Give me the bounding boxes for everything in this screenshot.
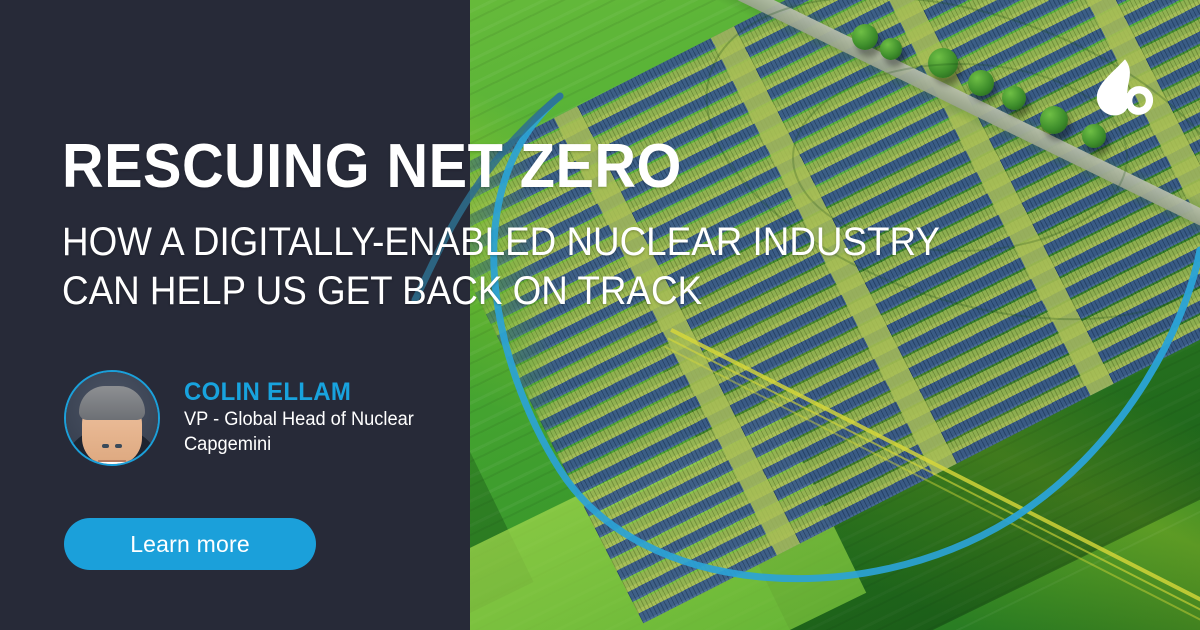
promo-banner: RESCUING NET ZERO HOW A DIGITALLY-ENABLE… [0,0,1200,630]
avatar-eye-right [102,444,109,448]
avatar-eye-left [115,444,122,448]
subtitle-line-1: HOW A DIGITALLY-ENABLED NUCLEAR INDUSTRY [62,218,940,267]
page-title: RESCUING NET ZERO [62,136,682,198]
author-name: COLIN ELLAM [184,379,414,407]
author-details: COLIN ELLAM VP - Global Head of Nuclear … [184,379,423,457]
capgemini-spade-logo-icon [1094,58,1156,124]
banner-content: RESCUING NET ZERO HOW A DIGITALLY-ENABLE… [0,0,1200,630]
subtitle-line-2: CAN HELP US GET BACK ON TRACK [62,267,940,316]
subtitle: HOW A DIGITALLY-ENABLED NUCLEAR INDUSTRY… [62,218,940,316]
author-role: VP - Global Head of Nuclear [184,407,414,432]
author-company: Capgemini [184,432,414,457]
avatar-hair [79,386,145,420]
author-block: COLIN ELLAM VP - Global Head of Nuclear … [64,370,423,466]
avatar-smile [98,462,126,466]
avatar [64,370,160,466]
learn-more-button[interactable]: Learn more [64,518,316,570]
